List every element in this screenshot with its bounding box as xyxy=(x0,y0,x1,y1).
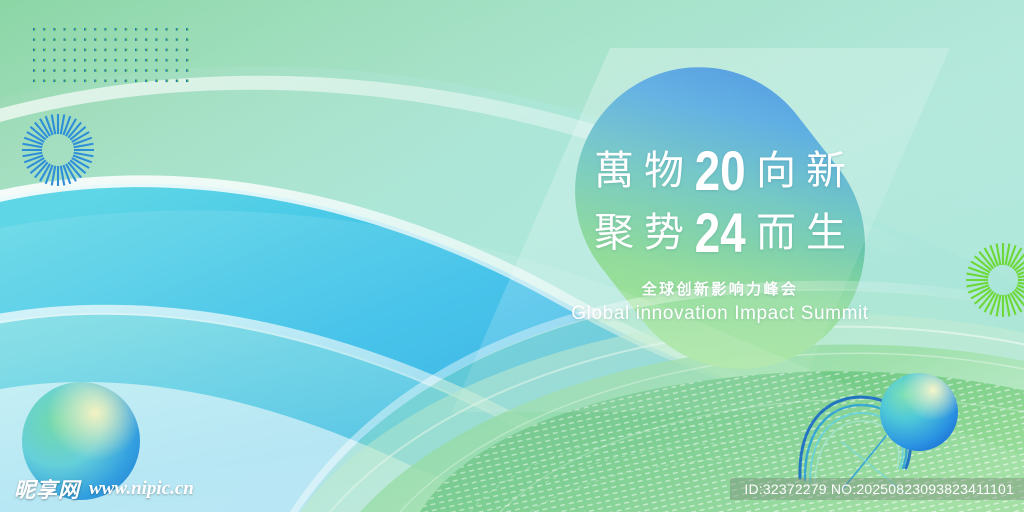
title-char-xin: 新 xyxy=(801,151,851,191)
title-char-wan: 萬 xyxy=(589,151,639,191)
title-char-sheng: 生 xyxy=(801,213,851,253)
title-char-shi: 势 xyxy=(639,213,689,253)
title-row-bottom: 聚 势 24 而 生 xyxy=(540,202,900,264)
headline-block: 萬 物 20 向 新 聚 势 24 而 生 全球创新影响力峰会 Global i… xyxy=(540,140,900,325)
title-row-top: 萬 物 20 向 新 xyxy=(540,140,900,202)
asset-id-strip: ID:32372279 NO:20250823093823411101 xyxy=(730,478,1024,500)
title-char-xiang: 向 xyxy=(751,151,801,191)
title-char-ju: 聚 xyxy=(589,213,639,253)
subtitle-chinese: 全球创新影响力峰会 xyxy=(540,278,900,299)
watermark-logo: 昵享网 xyxy=(14,474,80,504)
banner-canvas: 萬 物 20 向 新 聚 势 24 而 生 全球创新影响力峰会 Global i… xyxy=(0,0,1024,512)
watermark: 昵享网 www.nipic.cn xyxy=(14,474,194,504)
subtitle-english: Global innovation Impact Summit xyxy=(540,303,900,325)
watermark-url: www.nipic.cn xyxy=(89,478,194,500)
title-char-wu: 物 xyxy=(639,151,689,191)
gradient-sphere-right xyxy=(880,373,958,451)
year-top: 20 xyxy=(695,145,746,197)
title-char-er: 而 xyxy=(751,213,801,253)
year-bottom: 24 xyxy=(695,207,746,259)
